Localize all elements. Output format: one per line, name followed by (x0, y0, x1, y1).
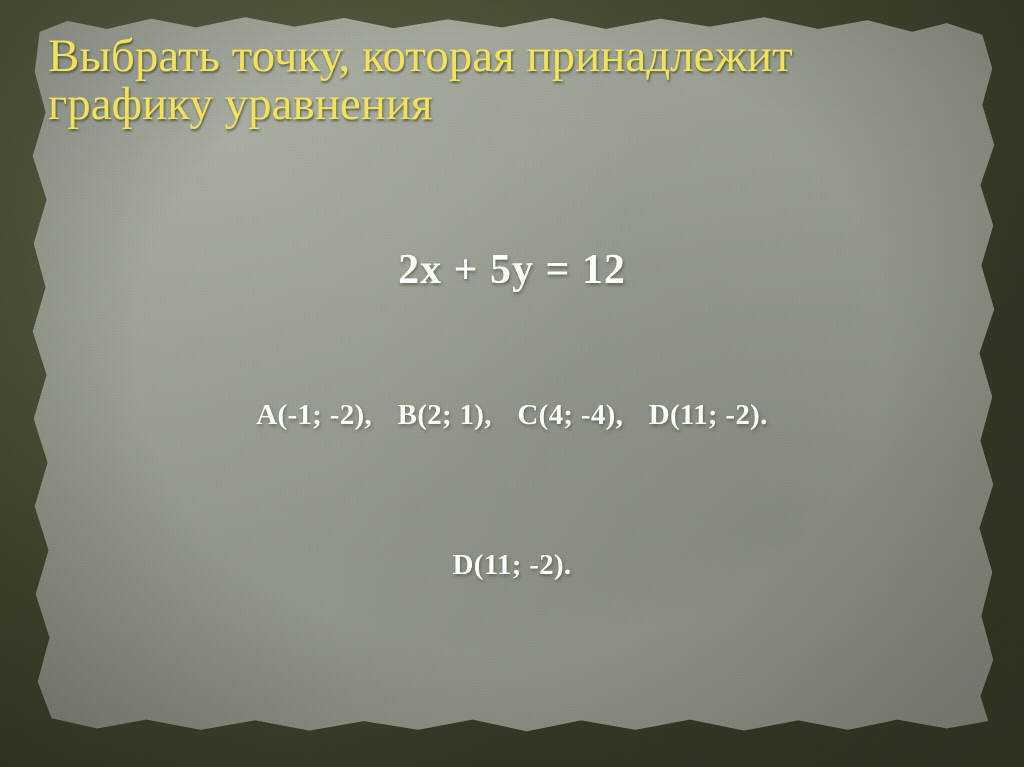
point-option-a: A(-1; -2), (256, 399, 372, 431)
candidate-points-line: A(-1; -2), B(2; 1), C(4; -4), D(11; -2). (0, 399, 1024, 432)
slide-content: Выбрать точку, которая принадлежит графи… (0, 0, 1024, 767)
point-option-d: D(11; -2). (649, 399, 768, 431)
answer-text: D(11; -2). (0, 549, 1024, 582)
point-option-b: B(2; 1), (398, 399, 492, 431)
point-option-c: C(4; -4), (517, 399, 623, 431)
slide-title: Выбрать точку, которая принадлежит графи… (48, 33, 948, 129)
equation-text: 2х + 5у = 12 (0, 246, 1024, 294)
presentation-slide: Выбрать точку, которая принадлежит графи… (0, 0, 1024, 767)
